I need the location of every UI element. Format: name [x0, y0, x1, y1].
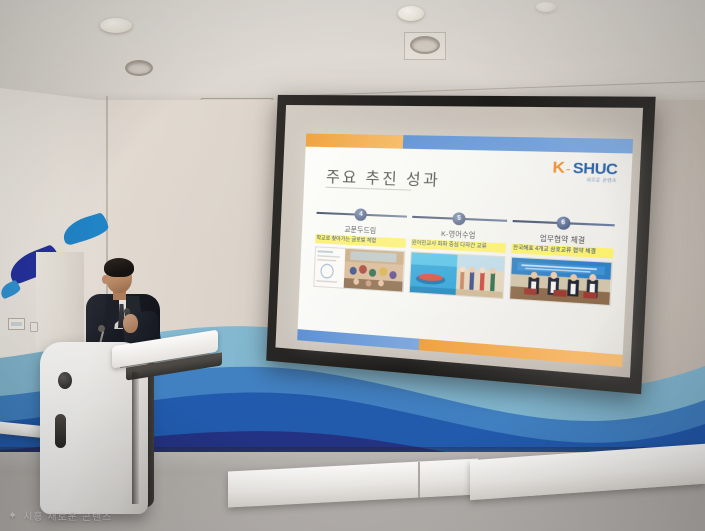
presenter-hair: [104, 258, 134, 277]
step-badge: 5: [452, 212, 466, 225]
podium-handle[interactable]: [55, 414, 66, 448]
podium-microphone-head-icon: [98, 325, 105, 332]
ceiling-vent-icon: [125, 60, 153, 76]
column-highlight-text: 한국해표 4개교 상호교류 협약 체결: [512, 244, 614, 259]
column-highlight-text: 학교로 찾아가는 글로벌 체험: [315, 234, 405, 247]
classroom-photo-thumbnail: [313, 246, 405, 292]
beach-activity-photo-thumbnail: [408, 251, 505, 299]
slide-accent-bar-bottom-left: [297, 329, 419, 350]
downlight-icon: [536, 2, 556, 12]
step-badge: 4: [355, 208, 368, 221]
podium-edge-shade: [132, 372, 139, 504]
watermark-text: 시흥 새로운 콘텐츠: [23, 508, 112, 523]
photo-scene: K - SHUC 새로운 콘텐츠 주요 추진 성과 4 교문두드림 학교로 찾아…: [0, 0, 705, 531]
brand-logo: K - SHUC: [552, 159, 618, 177]
mou-signing-photo-thumbnail: [509, 256, 613, 306]
sparkle-icon: ✦: [8, 509, 18, 522]
logo-dash: -: [566, 162, 571, 175]
slide-column: 6 업무협약 체결 한국해표 4개교 상호교류 협약 체결: [509, 215, 615, 306]
slide-columns: 4 교문두드림 학교로 찾아가는 글로벌 체험: [313, 207, 615, 306]
slide-column: 4 교문두드림 학교로 찾아가는 글로벌 체험: [313, 207, 407, 293]
ceiling-panel-line: [300, 81, 705, 96]
logo-letter-k: K: [552, 159, 564, 176]
screen-surface: K - SHUC 새로운 콘텐츠 주요 추진 성과 4 교문두드림 학교로 찾아…: [275, 105, 643, 378]
slide-accent-bar-top-right: [403, 135, 633, 153]
column-rail: 5: [412, 211, 508, 228]
presentation-slide: K - SHUC 새로운 콘텐츠 주요 추진 성과 4 교문두드림 학교로 찾아…: [297, 133, 633, 366]
column-rail: 4: [316, 207, 407, 223]
bench-seam: [418, 462, 420, 498]
slide-column: 5 K-영어수업 원어민교사 회화 중심 다자간 교류: [408, 211, 507, 299]
ceiling-vent-icon: [410, 36, 440, 54]
column-highlight-text: 원어민교사 회화 중심 다자간 교류: [410, 239, 506, 253]
presenter-ear: [102, 275, 108, 284]
step-badge: 6: [556, 216, 570, 230]
slide-accent-bar-top-left: [306, 133, 404, 148]
presenter-hand: [123, 314, 138, 333]
downlight-icon: [100, 18, 132, 33]
logo-wordmark: SHUC: [573, 160, 618, 177]
watermark: ✦ 시흥 새로운 콘텐츠: [8, 508, 112, 523]
logo-subtitle: 새로운 콘텐츠: [586, 177, 617, 185]
downlight-icon: [398, 6, 424, 21]
projection-screen: K - SHUC 새로운 콘텐츠 주요 추진 성과 4 교문두드림 학교로 찾아…: [266, 95, 655, 394]
column-rail: 6: [513, 215, 615, 232]
podium-knob-icon[interactable]: [58, 372, 72, 389]
